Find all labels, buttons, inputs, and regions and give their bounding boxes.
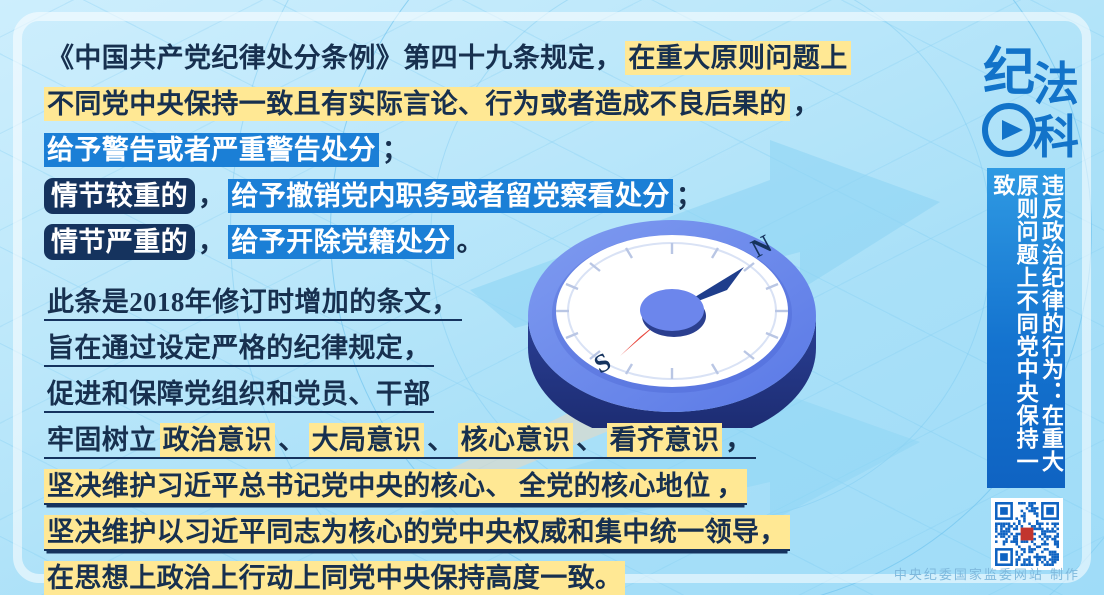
text-segment-hl-b: 给予撤销党内职务或者留党察看处分: [228, 179, 672, 213]
text-segment-plain: ，: [722, 423, 755, 457]
text-segment-plain: 。: [454, 225, 487, 259]
text-line: 坚决维护以习近平同志为核心的党中央权威和集中统一领导，: [44, 512, 764, 552]
text-segment-plain: 促进和保障党组织和党员、干部: [44, 377, 434, 411]
qr-code[interactable]: [991, 498, 1063, 570]
infographic-canvas: N S 《中国共产党纪律处分条例》第四十九条规定，在重大原则问题上不同党中央保持…: [0, 0, 1104, 595]
text-segment-hl-y: 大局意识: [309, 423, 425, 457]
text-segment-plain: ；: [379, 133, 412, 167]
text-segment-hl-b: 给予开除党籍处分: [228, 225, 453, 259]
text-segment-hl-y: 全党的核心地位: [516, 469, 714, 503]
text-line: 旨在通过设定严格的纪律规定，: [44, 328, 764, 368]
banner-line-right: 违反政治纪律的行为：在重大: [1039, 174, 1062, 488]
logo-char-ji: 纪: [983, 43, 1035, 103]
jifa-baike-logo[interactable]: 纪 法 科: [981, 38, 1085, 160]
play-triangle-icon: [1002, 120, 1023, 140]
text-segment-plain: ；: [673, 179, 706, 213]
credit-text: 中央纪委国家监委网站 制作: [894, 564, 1080, 583]
text-line: 在思想上政治上行动上同党中央保持高度一致。: [44, 558, 764, 595]
text-segment-badge: 情节较重的: [44, 178, 195, 214]
text-line: 坚决维护习近平总书记党中央的核心、全党的核心地位，: [44, 466, 764, 506]
vertical-title-banner: 违反政治纪律的行为：在重大 原则问题上不同党中央保持一致: [987, 168, 1065, 488]
text-segment-hl-y: 政治意识: [160, 423, 276, 457]
text-segment-hl-y: 坚决维护习近平总书记党中央的核心、: [44, 469, 516, 503]
text-line: 牢固树立政治意识、大局意识、核心意识、看齐意识，: [44, 420, 764, 460]
text-segment-hl-y: 在思想上政治上行动上同党中央保持高度一致。: [44, 561, 625, 595]
text-segment-hl-y: 在重大原则问题上: [625, 41, 850, 75]
text-segment-plain: 牢固树立: [44, 423, 160, 457]
text-line: 情节严重的，给予开除党籍处分。: [44, 222, 764, 262]
text-segment-plain: 、: [573, 423, 606, 457]
text-segment-hl-y: 不同党中央保持一致且有实际言论、行为或者造成不良后果的: [44, 87, 790, 121]
text-segment-plain: ，: [195, 179, 228, 213]
text-segment-badge: 情节严重的: [44, 224, 195, 260]
text-segment-plain: ，: [195, 225, 228, 259]
text-segment-hl-b: 给予警告或者严重警告处分: [44, 133, 379, 167]
text-segment-plain: 、: [424, 423, 457, 457]
text-line: 促进和保障党组织和党员、干部: [44, 374, 764, 414]
text-line: 此条是2018年修订时增加的条文，: [44, 282, 764, 322]
article-text-block: 《中国共产党纪律处分条例》第四十九条规定，在重大原则问题上不同党中央保持一致且有…: [44, 38, 764, 595]
text-line: 不同党中央保持一致且有实际言论、行为或者造成不良后果的，: [44, 84, 764, 124]
text-line: 情节较重的，给予撤销党内职务或者留党察看处分；: [44, 176, 764, 216]
text-line: 《中国共产党纪律处分条例》第四十九条规定，在重大原则问题上: [44, 38, 764, 78]
text-segment-plain: 《中国共产党纪律处分条例》第四十九条规定，: [44, 41, 625, 75]
text-segment-hl-y: 坚决维护以习近平同志为核心的党中央权威和集中统一领导，: [44, 515, 790, 549]
logo-char-fa: 法: [1033, 57, 1079, 111]
text-segment-plain: ，: [790, 87, 823, 121]
text-segment-plain: 、: [275, 423, 308, 457]
text-segment-plain: 旨在通过设定严格的纪律规定，: [44, 331, 434, 365]
text-segment-plain: 此条是2018年修订时增加的条文，: [44, 285, 462, 319]
text-line: 给予警告或者严重警告处分；: [44, 130, 764, 170]
banner-line-left: 原则问题上不同党中央保持一致: [990, 174, 1037, 488]
right-rail: 纪 法 科 违反政治纪律的行为：在重大 原则问题上不同党中央保持一致: [967, 16, 1087, 579]
text-segment-hl-y: 看齐意识: [607, 423, 723, 457]
text-segment-hl-y: 核心意识: [458, 423, 574, 457]
logo-char-ke: 科: [1033, 110, 1079, 160]
text-segment-hl-y: ，: [714, 469, 747, 503]
